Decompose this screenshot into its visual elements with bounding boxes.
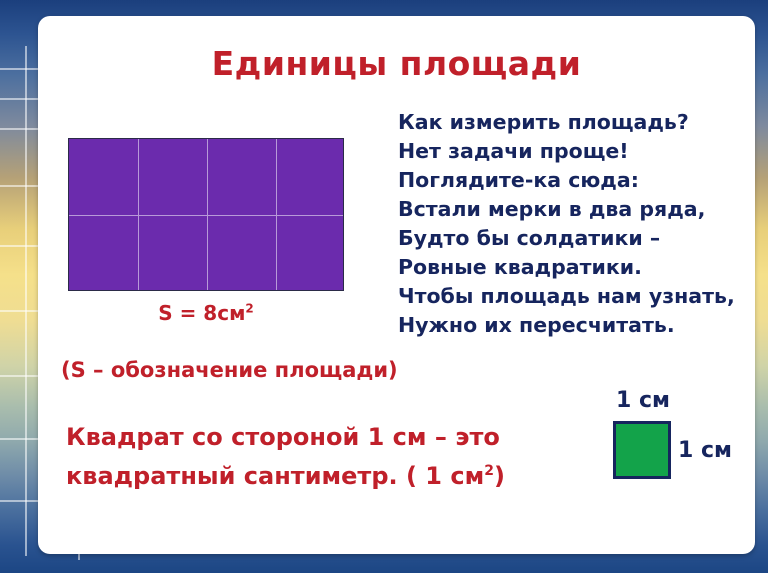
decorative-grid-line-vertical: [25, 46, 27, 556]
decorative-grid-line-horizontal: [0, 438, 40, 440]
decorative-grid-line-horizontal: [0, 185, 40, 187]
slide-card: Единицы площади S = 8см2 (S – обозначени…: [38, 16, 755, 554]
poem-line: Поглядите-ка сюда:: [398, 166, 735, 195]
definition-line-2: квадратный сантиметр. ( 1 см2): [66, 454, 505, 493]
definition-statement: Квадрат со стороной 1 см – это квадратны…: [66, 420, 505, 493]
poem-line: Нужно их пересчитать.: [398, 311, 735, 340]
poem-line: Ровные квадратики.: [398, 253, 735, 282]
unit-square-figure: [613, 421, 671, 479]
decorative-grid-line-horizontal: [0, 128, 40, 130]
unit-square-top-label: 1 см: [616, 388, 670, 413]
definition-line-2-superscript: 2: [484, 463, 494, 479]
s-notation-note: (S – обозначение площади): [61, 358, 398, 382]
decorative-grid-line-horizontal: [0, 500, 40, 502]
unit-square-right-label: 1 см: [678, 438, 732, 463]
poem-line: Нет задачи проще!: [398, 137, 735, 166]
decorative-grid-line-horizontal: [0, 68, 40, 70]
slide-background: Единицы площади S = 8см2 (S – обозначени…: [0, 0, 768, 573]
area-figure-gridline-horizontal: [69, 215, 343, 216]
poem-line: Будто бы солдатики –: [398, 224, 735, 253]
page-title: Единицы площади: [38, 44, 755, 83]
definition-line-2-before: квадратный сантиметр. ( 1 см: [66, 462, 484, 490]
area-figure-label: S = 8см2: [68, 301, 344, 325]
definition-line-1: Квадрат со стороной 1 см – это: [66, 420, 505, 454]
poem-line: Чтобы площадь нам узнать,: [398, 282, 735, 311]
area-label-superscript: 2: [245, 301, 253, 315]
decorative-grid-line-horizontal: [0, 245, 40, 247]
poem-line: Как измерить площадь?: [398, 108, 735, 137]
poem-block: Как измерить площадь? Нет задачи проще! …: [398, 108, 735, 340]
decorative-grid-line-horizontal: [0, 310, 40, 312]
decorative-grid-line-horizontal: [0, 98, 40, 100]
decorative-grid-line-horizontal: [0, 375, 40, 377]
definition-line-2-after: ): [494, 462, 505, 490]
area-figure-rectangle: [68, 138, 344, 291]
poem-line: Встали мерки в два ряда,: [398, 195, 735, 224]
area-label-text: S = 8см: [158, 301, 245, 325]
